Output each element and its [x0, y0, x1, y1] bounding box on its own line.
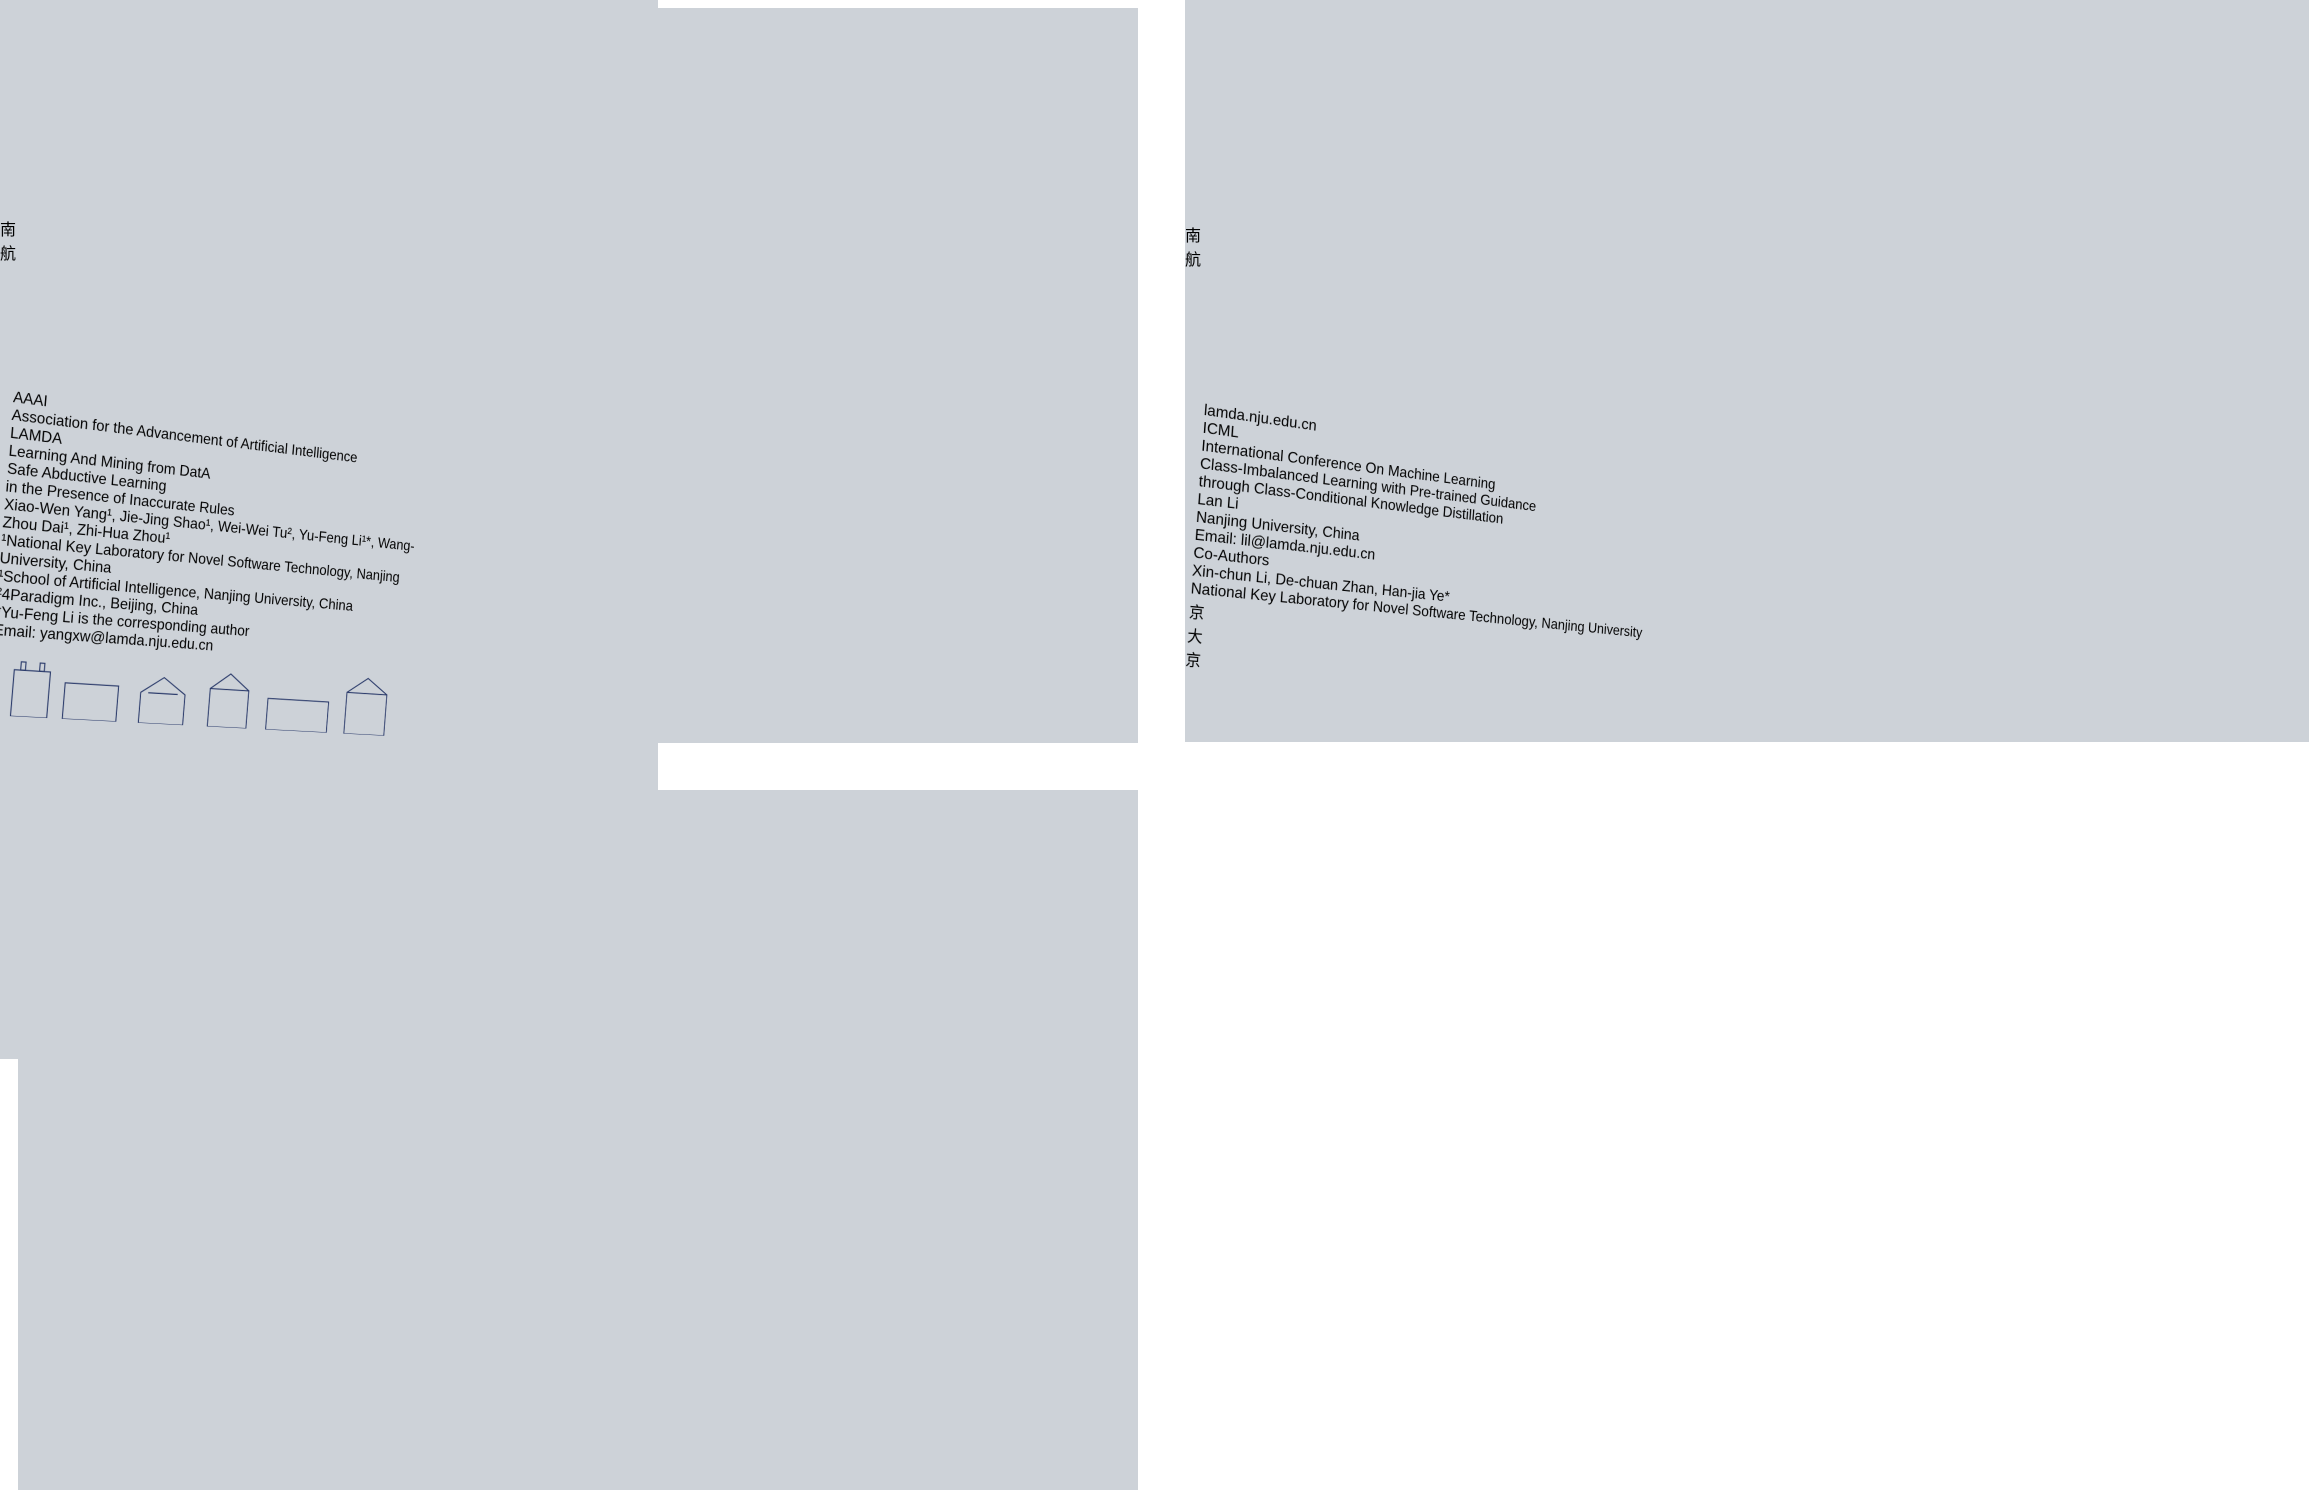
flag-china-4 — [0, 50, 34, 216]
flag-university-4: 南航 — [0, 216, 36, 388]
tech-ring-inner-icon — [18, 1398, 169, 1490]
presenter-4 — [0, 720, 66, 1059]
speaker-4 — [0, 0, 44, 52]
photo-grid: 南航 NUAA 1952 南京航空航天大学 NANJING UNIVERSITY… — [0, 0, 2309, 1494]
speaker-2 — [1185, 0, 1227, 52]
led-screen-2: lamda.nju.edu.cn ICML International Conf… — [1185, 402, 1839, 721]
led-screen-frame-3: 01001010 1101001 010110 0110 2024年第一次机器学… — [18, 1171, 729, 1490]
slide-2: lamda.nju.edu.cn ICML International Conf… — [1185, 402, 1839, 721]
led-screen-3: 01001010 1101001 010110 0110 2024年第一次机器学… — [18, 1171, 729, 1490]
led-screen-4: AAAI Association for the Advancement of … — [0, 389, 441, 742]
slide-4: AAAI Association for the Advancement of … — [0, 389, 441, 742]
flag-university-2: 南航 — [1185, 222, 1223, 400]
led-screen-frame-2: lamda.nju.edu.cn ICML International Conf… — [1185, 402, 1839, 742]
room-background-4: 南航 — [0, 0, 658, 388]
photo-panel-4: 南航 AAAI Association for the — [0, 0, 658, 1059]
slide3-tech-graphic: 01001010 1101001 010110 0110 — [18, 1171, 729, 1490]
flag-china-2 — [1185, 50, 1221, 222]
led-screen-frame-4: AAAI Association for the Advancement of … — [0, 389, 441, 742]
photo-panel-2: 南航 lamda.nju.edu.cn ICML International C… — [1185, 0, 2309, 742]
room-background-2: 南航 — [1185, 0, 2309, 400]
tech-ring-outer-icon — [23, 1171, 249, 1422]
slide-3: 01001010 1101001 010110 0110 2024年第一次机器学… — [18, 1171, 729, 1490]
